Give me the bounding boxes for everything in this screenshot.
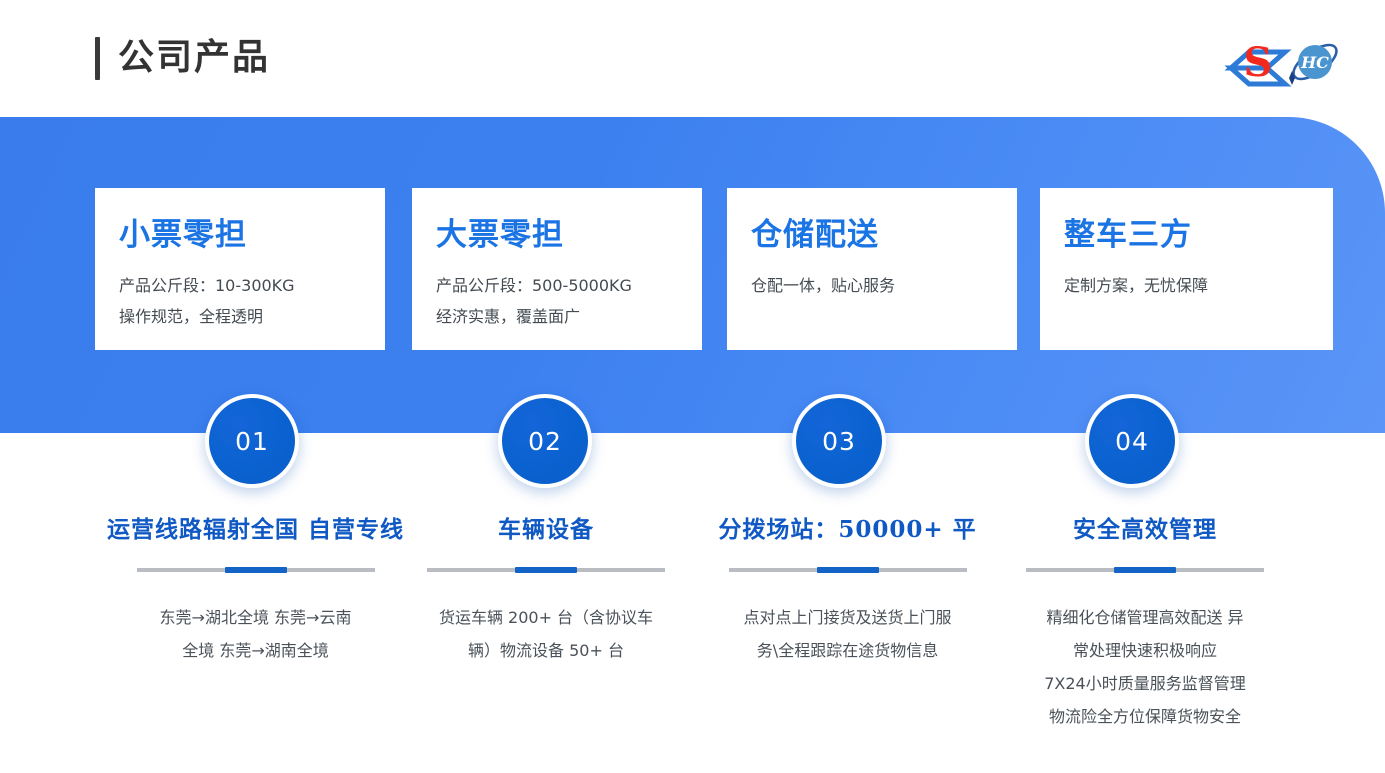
logo-hc-text: HC [1300, 53, 1329, 72]
product-card-title: 小票零担 [119, 216, 385, 254]
product-card-line: 产品公斤段：500-5000KG [436, 270, 702, 301]
logo-svg: S HC [1223, 34, 1343, 92]
step-number: 01 [235, 427, 269, 456]
product-card-line: 仓配一体，贴心服务 [751, 270, 1017, 301]
slide-root: 公司产品 S HC 小票零担 产品公斤段：10-300KG [0, 0, 1385, 773]
feature-body-line: 精细化仓储管理高效配送 异 [995, 601, 1295, 634]
feature-column: 分拨场站：50000+ 平 点对点上门接货及送货上门服 务\全程跟踪在途货物信息 [700, 514, 995, 667]
logo-s-letter: S [1244, 39, 1273, 86]
page-title: 公司产品 [118, 36, 270, 80]
product-card-title: 大票零担 [436, 216, 702, 254]
product-card-row: 小票零担 产品公斤段：10-300KG 操作规范，全程透明 大票零担 产品公斤段… [0, 188, 1385, 350]
product-card-title: 仓储配送 [751, 216, 1017, 254]
feature-title: 安全高效管理 [995, 514, 1295, 546]
feature-body-line: 务\全程跟踪在途货物信息 [700, 634, 995, 667]
page-title-wrap: 公司产品 [95, 36, 270, 80]
product-card-line: 定制方案，无忧保障 [1064, 270, 1333, 301]
feature-divider [1026, 568, 1264, 572]
feature-body-line: 辆）物流设备 50+ 台 [410, 634, 682, 667]
title-accent-bar [95, 37, 100, 80]
feature-column-row: 运营线路辐射全国 自营专线 东莞→湖北全境 东莞→云南 全境 东莞→湖南全境 车… [0, 514, 1385, 764]
feature-divider [729, 568, 967, 572]
feature-divider [137, 568, 375, 572]
feature-column: 运营线路辐射全国 自营专线 东莞→湖北全境 东莞→云南 全境 东莞→湖南全境 [78, 514, 433, 667]
step-circle-03[interactable]: 03 [792, 394, 886, 488]
product-card-line: 经济实惠，覆盖面广 [436, 301, 702, 332]
step-number: 04 [1115, 427, 1149, 456]
feature-body-line: 东莞→湖北全境 东莞→云南 [78, 601, 433, 634]
feature-body: 东莞→湖北全境 东莞→云南 全境 东莞→湖南全境 [78, 601, 433, 667]
feature-body: 点对点上门接货及送货上门服 务\全程跟踪在途货物信息 [700, 601, 995, 667]
company-logo: S HC [1223, 34, 1343, 92]
product-card-line: 产品公斤段：10-300KG [119, 270, 385, 301]
step-circle-04[interactable]: 04 [1085, 394, 1179, 488]
product-card[interactable]: 整车三方 定制方案，无忧保障 [1040, 188, 1333, 350]
feature-body: 货运车辆 200+ 台（含协议车 辆）物流设备 50+ 台 [410, 601, 682, 667]
feature-body-line: 点对点上门接货及送货上门服 [700, 601, 995, 634]
product-card-title: 整车三方 [1064, 216, 1333, 254]
step-circle-02[interactable]: 02 [498, 394, 592, 488]
feature-column: 车辆设备 货运车辆 200+ 台（含协议车 辆）物流设备 50+ 台 [410, 514, 682, 667]
feature-body-line: 全境 东莞→湖南全境 [78, 634, 433, 667]
feature-column: 安全高效管理 精细化仓储管理高效配送 异 常处理快速积极响应 7X24小时质量服… [995, 514, 1295, 733]
feature-body-line: 7X24小时质量服务监督管理 [995, 667, 1295, 700]
product-card[interactable]: 仓储配送 仓配一体，贴心服务 [727, 188, 1017, 350]
feature-title: 车辆设备 [410, 514, 682, 546]
product-card[interactable]: 大票零担 产品公斤段：500-5000KG 经济实惠，覆盖面广 [412, 188, 702, 350]
feature-body-line: 货运车辆 200+ 台（含协议车 [410, 601, 682, 634]
step-number: 02 [528, 427, 562, 456]
step-number: 03 [822, 427, 856, 456]
page-header: 公司产品 S HC [0, 0, 1385, 112]
feature-title: 运营线路辐射全国 自营专线 [78, 514, 433, 546]
step-circle-01[interactable]: 01 [205, 394, 299, 488]
feature-body: 精细化仓储管理高效配送 异 常处理快速积极响应 7X24小时质量服务监督管理 物… [995, 601, 1295, 733]
feature-divider [427, 568, 665, 572]
feature-title: 分拨场站：50000+ 平 [700, 514, 995, 546]
feature-body-line: 物流险全方位保障货物安全 [995, 700, 1295, 733]
feature-body-line: 常处理快速积极响应 [995, 634, 1295, 667]
product-card[interactable]: 小票零担 产品公斤段：10-300KG 操作规范，全程透明 [95, 188, 385, 350]
product-card-line: 操作规范，全程透明 [119, 301, 385, 332]
